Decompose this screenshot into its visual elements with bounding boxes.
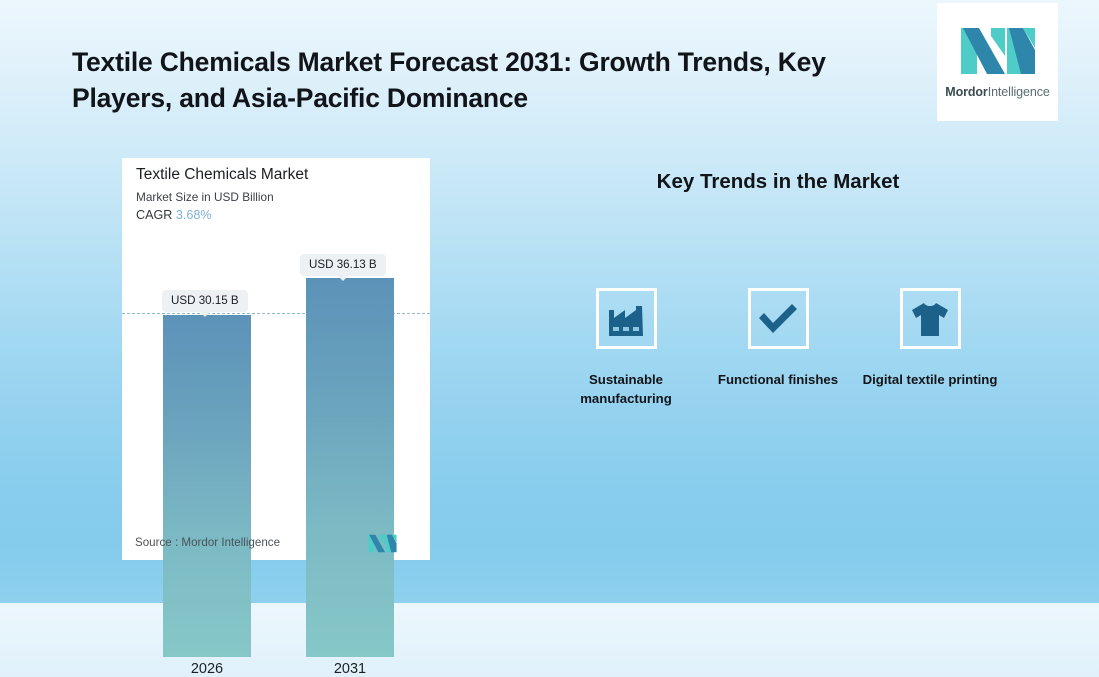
mordor-m-logo-icon bbox=[368, 534, 397, 553]
trend-label: Digital textile printing bbox=[863, 370, 998, 389]
brand-logo-wordmark: MordorIntelligence bbox=[945, 85, 1050, 99]
source-label: Source : bbox=[135, 536, 178, 549]
x-axis-label-2026: 2026 bbox=[163, 661, 251, 677]
brand-name-bold: Mordor bbox=[945, 85, 987, 99]
trend-icon-box bbox=[748, 288, 809, 349]
trend-item-functional-finishes: Functional finishes bbox=[708, 288, 848, 408]
bar-value-label-2031: USD 36.13 B bbox=[300, 254, 386, 276]
cagr-value: 3.68% bbox=[176, 208, 212, 222]
page-title: Textile Chemicals Market Forecast 2031: … bbox=[72, 45, 872, 117]
t-shirt-icon bbox=[910, 301, 950, 337]
factory-icon bbox=[606, 301, 646, 337]
chart-title: Textile Chemicals Market bbox=[136, 166, 308, 184]
check-mark-icon bbox=[757, 302, 799, 336]
trend-icon-box bbox=[900, 288, 961, 349]
trend-label: Sustainable manufacturing bbox=[556, 370, 696, 408]
bar-value-label-2026: USD 30.15 B bbox=[162, 290, 248, 312]
brand-logo: MordorIntelligence bbox=[937, 3, 1058, 121]
source-name: Mordor Intelligence bbox=[181, 536, 280, 549]
trend-item-digital-textile-printing: Digital textile printing bbox=[860, 288, 1000, 408]
trends-row: Sustainable manufacturing Functional fin… bbox=[556, 288, 1000, 408]
mordor-m-logo-icon bbox=[961, 26, 1035, 76]
bar-2026 bbox=[163, 315, 251, 657]
chart-cagr: CAGR 3.68% bbox=[136, 208, 212, 222]
trend-icon-box bbox=[596, 288, 657, 349]
chart-source: Source : Mordor Intelligence bbox=[135, 536, 280, 549]
trends-heading: Key Trends in the Market bbox=[560, 170, 996, 194]
x-axis-label-2031: 2031 bbox=[306, 661, 394, 677]
brand-name-light: Intelligence bbox=[988, 85, 1050, 99]
cagr-label: CAGR bbox=[136, 208, 172, 222]
trend-item-sustainable-manufacturing: Sustainable manufacturing bbox=[556, 288, 696, 408]
chart-subtitle: Market Size in USD Billion bbox=[136, 190, 274, 204]
trend-label: Functional finishes bbox=[718, 370, 838, 389]
bar-2031 bbox=[306, 278, 394, 657]
chart-card: Textile Chemicals Market Market Size in … bbox=[122, 158, 430, 560]
